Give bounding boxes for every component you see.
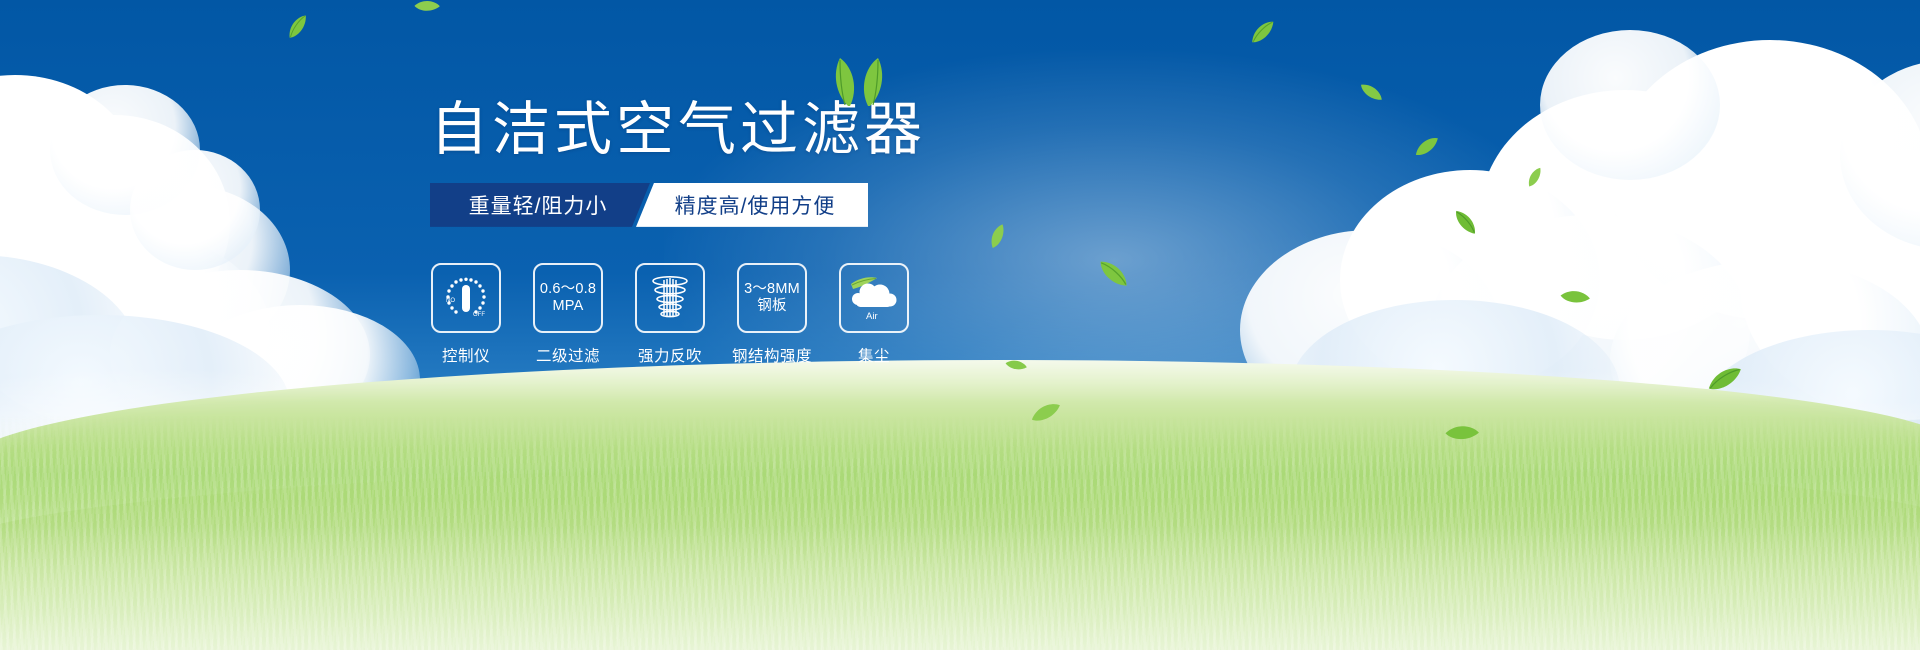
tag-high-precision-easy-use[interactable]: 精度高/使用方便 (636, 183, 868, 227)
feature-icon-box: 3～8MM 钢板 (737, 263, 807, 333)
page-title: 自洁式空气过滤器 (430, 100, 1190, 161)
feature-item-strong-backblow[interactable]: 强力反吹 (634, 263, 706, 366)
tag-group: 重量轻/阻力小 精度高/使用方便 (430, 183, 822, 227)
feature-item-two-stage-filter[interactable]: 0.6～0.8 MPA 二级过滤 (532, 263, 604, 366)
air-cloud-icon: Air (847, 274, 901, 322)
tag-lightweight-low-resistance[interactable]: 重量轻/阻力小 (430, 183, 650, 227)
tag-label: 精度高/使用方便 (675, 190, 836, 220)
feature-label: 控制仪 (442, 344, 490, 366)
grass-texture (0, 415, 1920, 650)
feature-item-steel-strength[interactable]: 3～8MM 钢板 钢结构强度 (736, 263, 808, 366)
feature-icon-box: NO OFF (431, 263, 501, 333)
feature-item-controller[interactable]: NO OFF 控制仪 (430, 263, 502, 366)
feature-icon-box: Air (839, 263, 909, 333)
feature-item-dust-collection[interactable]: Air 集尘 (838, 263, 910, 366)
feature-label: 钢结构强度 (732, 344, 812, 366)
gauge-off-label: OFF (473, 312, 485, 318)
banner-content: 自洁式空气过滤器 重量轻/阻力小 精度高/使用方便 (430, 100, 1190, 366)
feature-label: 强力反吹 (638, 344, 702, 366)
feature-list: NO OFF 控制仪 0.6～0.8 MPA 二级过滤 (430, 263, 1190, 366)
pressure-value-line2: MPA (553, 298, 584, 315)
air-label: Air (866, 311, 878, 322)
filter-cartridge-icon (644, 274, 696, 322)
steel-value-line2: 钢板 (757, 298, 786, 315)
steel-value-line1: 3～8MM (744, 281, 800, 298)
tag-label: 重量轻/阻力小 (469, 190, 608, 220)
feature-icon-box: 0.6～0.8 MPA (533, 263, 603, 333)
gauge-on-label: NO (446, 298, 455, 304)
hero-banner: 自洁式空气过滤器 重量轻/阻力小 精度高/使用方便 (0, 0, 1920, 650)
title-leaf-decoration (828, 56, 890, 118)
feature-label: 二级过滤 (536, 344, 600, 366)
feature-label: 集尘 (858, 344, 890, 366)
gauge-dial-icon: NO OFF (440, 275, 492, 321)
feature-icon-box (635, 263, 705, 333)
pressure-value-line1: 0.6～0.8 (540, 281, 596, 298)
